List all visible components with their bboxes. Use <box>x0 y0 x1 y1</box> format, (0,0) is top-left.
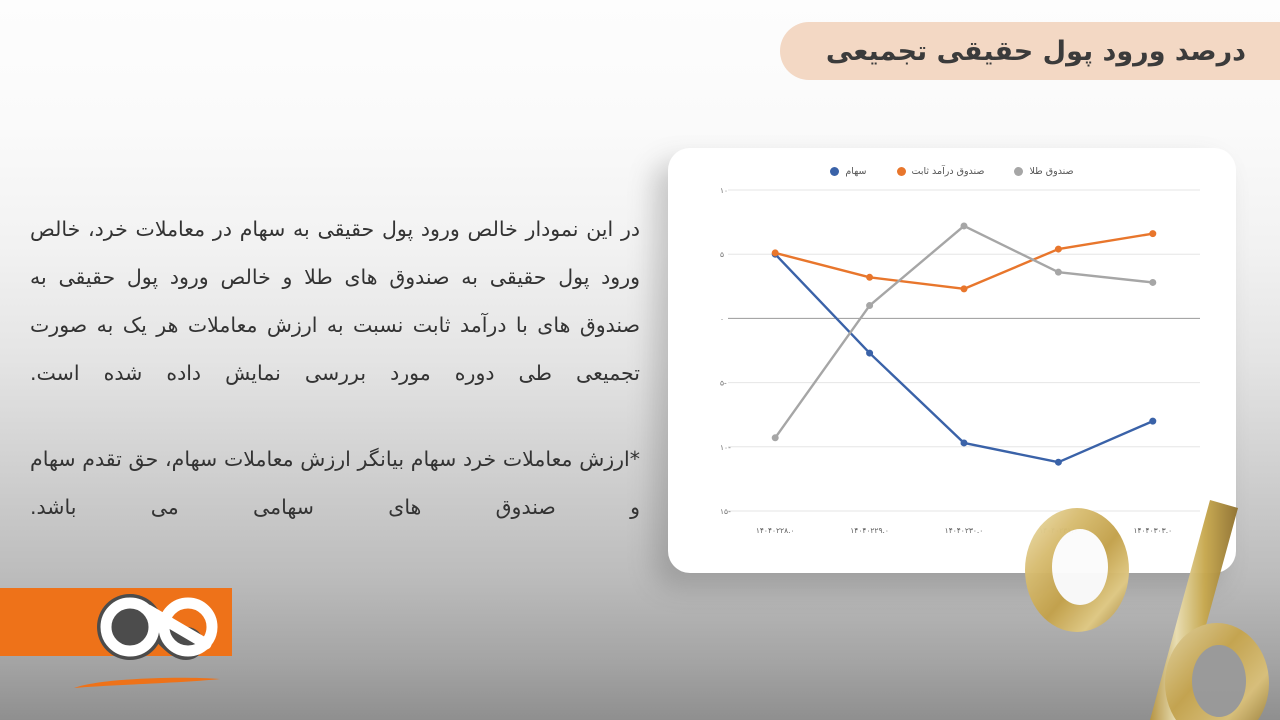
series-point-1[interactable] <box>1055 246 1061 252</box>
brand-logo <box>0 588 250 698</box>
chart-series-layer <box>772 223 1156 465</box>
logo-swoosh-icon <box>72 676 222 690</box>
y-tick-label: ۵ <box>720 250 724 259</box>
description-column: در این نمودار خالص ورود پول حقیقی به سها… <box>30 205 640 531</box>
slide-root: درصد ورود پول حقیقی تجمیعی در این نمودار… <box>0 0 1280 720</box>
infinity-icon <box>78 584 238 670</box>
description-paragraph-1: در این نمودار خالص ورود پول حقیقی به سها… <box>30 205 640 397</box>
line-chart-svg: ۱۰۵۰-۵-۱۰-۱۵ ۱۴۰۴۰۲۲۸.۰۱۴۰۴۰۲۲۹.۰۱۴۰۴۰۲۳… <box>686 184 1218 549</box>
chart-card: سهام صندوق درآمد ثابت صندوق طلا ۱۰۵۰-۵-۱… <box>668 148 1236 573</box>
legend-swatch-fixed-income <box>897 167 906 176</box>
legend-swatch-stock <box>830 167 839 176</box>
series-point-1[interactable] <box>772 250 778 256</box>
series-point-0[interactable] <box>867 350 873 356</box>
legend-item-stock[interactable]: سهام <box>830 166 866 177</box>
page-title-pill: درصد ورود پول حقیقی تجمیعی <box>780 22 1280 80</box>
chart-legend: سهام صندوق درآمد ثابت صندوق طلا <box>668 166 1236 177</box>
series-point-2[interactable] <box>1150 279 1156 285</box>
y-tick-label: -۱۵ <box>720 507 731 516</box>
series-point-1[interactable] <box>961 286 967 292</box>
y-tick-label: -۵ <box>720 379 727 388</box>
chart-y-tick-labels: ۱۰۵۰-۵-۱۰-۱۵ <box>720 186 731 516</box>
series-point-2[interactable] <box>1055 269 1061 275</box>
y-tick-label: ۱۰ <box>720 186 728 195</box>
series-point-0[interactable] <box>1150 418 1156 424</box>
series-point-2[interactable] <box>961 223 967 229</box>
legend-item-fixed-income[interactable]: صندوق درآمد ثابت <box>897 166 985 177</box>
series-point-2[interactable] <box>867 303 873 309</box>
legend-label-gold: صندوق طلا <box>1029 166 1073 177</box>
legend-swatch-gold <box>1014 167 1023 176</box>
x-tick-label: ۱۴۰۴۰۳۰۳.۰ <box>1133 526 1172 535</box>
x-tick-label: ۱۴۰۴۰۲۳۱.۰ <box>1039 526 1078 535</box>
x-tick-label: ۱۴۰۴۰۲۲۸.۰ <box>756 526 795 535</box>
x-tick-label: ۱۴۰۴۰۲۲۹.۰ <box>850 526 889 535</box>
y-tick-label: -۱۰ <box>720 443 731 452</box>
x-tick-label: ۱۴۰۴۰۲۳۰.۰ <box>945 526 984 535</box>
series-point-0[interactable] <box>1055 459 1061 465</box>
series-point-1[interactable] <box>867 274 873 280</box>
series-point-0[interactable] <box>961 440 967 446</box>
y-tick-label: ۰ <box>720 314 724 323</box>
legend-label-stock: سهام <box>845 166 866 177</box>
chart-x-tick-labels: ۱۴۰۴۰۲۲۸.۰۱۴۰۴۰۲۲۹.۰۱۴۰۴۰۲۳۰.۰۱۴۰۴۰۲۳۱.۰… <box>756 526 1172 535</box>
legend-item-gold[interactable]: صندوق طلا <box>1014 166 1073 177</box>
series-point-1[interactable] <box>1150 231 1156 237</box>
legend-label-fixed-income: صندوق درآمد ثابت <box>912 166 985 177</box>
series-line-1 <box>775 234 1153 289</box>
chart-plot-area: ۱۰۵۰-۵-۱۰-۱۵ ۱۴۰۴۰۲۲۸.۰۱۴۰۴۰۲۲۹.۰۱۴۰۴۰۲۳… <box>686 184 1218 549</box>
series-point-2[interactable] <box>772 435 778 441</box>
description-footnote: *ارزش معاملات خرد سهام بیانگر ارزش معامل… <box>30 435 640 531</box>
page-title: درصد ورود پول حقیقی تجمیعی <box>826 36 1246 67</box>
series-line-2 <box>775 226 1153 438</box>
